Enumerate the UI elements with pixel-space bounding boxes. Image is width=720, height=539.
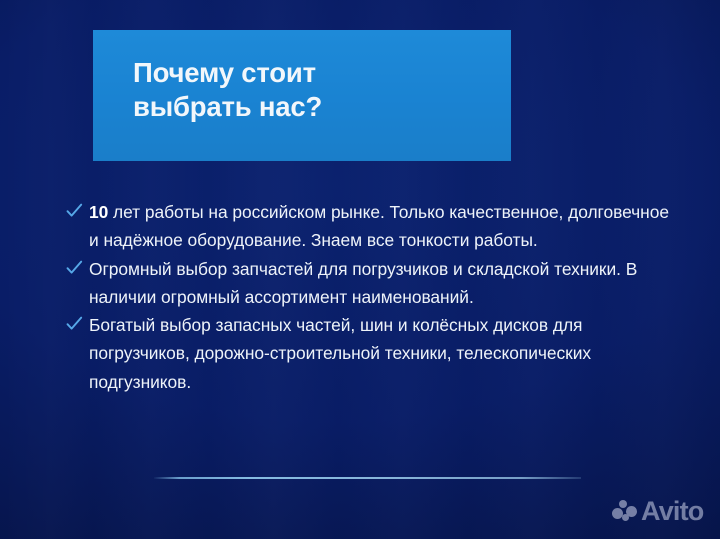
list-item-text: Богатый выбор запасных частей, шин и кол…	[89, 315, 591, 392]
list-item-text: 10 лет работы на российском рынке. Тольк…	[89, 202, 669, 250]
list-item: Богатый выбор запасных частей, шин и кол…	[62, 311, 672, 396]
avito-watermark: Avito	[612, 498, 704, 524]
check-icon	[66, 314, 83, 334]
check-icon	[66, 201, 83, 221]
avito-wordmark: Avito	[641, 498, 704, 524]
list-item: Огромный выбор запчастей для погрузчиков…	[62, 255, 672, 312]
avito-dots-logo	[612, 499, 638, 523]
title-banner: Почему стоит выбрать нас?	[93, 30, 511, 161]
list-item-body: лет работы на российском рынке. Только к…	[89, 202, 669, 250]
slide-canvas: Почему стоит выбрать нас? 10 лет работы …	[0, 0, 720, 539]
list-item: 10 лет работы на российском рынке. Тольк…	[62, 198, 672, 255]
list-item-body: Огромный выбор запчастей для погрузчиков…	[89, 259, 637, 307]
divider	[154, 477, 581, 479]
list-item-text: Огромный выбор запчастей для погрузчиков…	[89, 259, 637, 307]
page-title: Почему стоит выбрать нас?	[133, 56, 493, 124]
benefits-list: 10 лет работы на российском рынке. Тольк…	[62, 198, 672, 396]
check-icon	[66, 258, 83, 278]
list-item-body: Богатый выбор запасных частей, шин и кол…	[89, 315, 591, 392]
list-item-lead: 10	[89, 202, 108, 222]
